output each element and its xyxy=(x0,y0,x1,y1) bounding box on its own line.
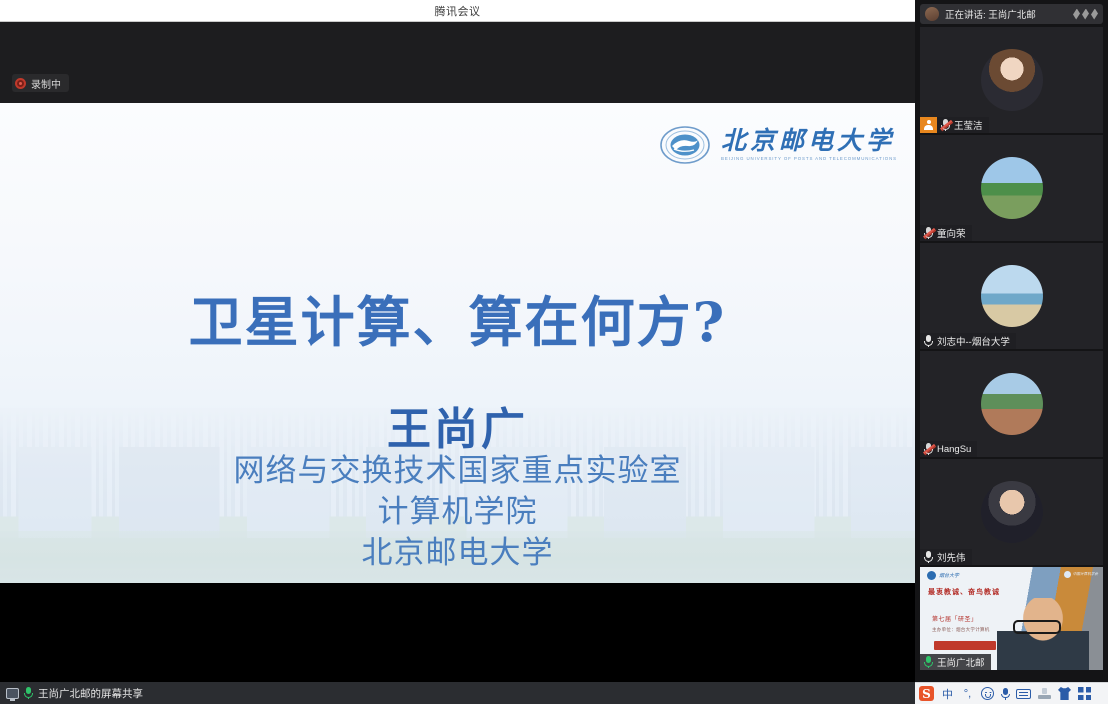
toolbox-icon[interactable] xyxy=(1038,688,1051,699)
microphone-muted-icon xyxy=(941,119,950,131)
microphone-muted-icon xyxy=(924,227,933,239)
sogou-logo-icon[interactable]: S xyxy=(919,686,934,701)
active-speaker-video-tile[interactable]: 烟台大学 中国计算机学会 最衷教诚、奋鸟教诚 第七届「研圣」 主办单位：烟台大学… xyxy=(920,567,1103,670)
smiley-icon[interactable] xyxy=(981,687,994,700)
participant-badges: 王尚广北邮 xyxy=(920,654,991,670)
ccf-logo-label: 中国计算机学会 xyxy=(1073,572,1098,577)
tencent-meeting-window: 腾讯会议 录制中 xyxy=(0,0,1108,704)
host-badge-icon xyxy=(920,117,937,133)
microphone-icon xyxy=(24,687,33,699)
app-grid-icon[interactable] xyxy=(1078,687,1091,700)
participant-name: 刘志中--烟台大学 xyxy=(937,334,1010,348)
avatar xyxy=(981,265,1043,327)
slide-letterbox-band xyxy=(0,583,915,682)
participant-name-chip: 童向荣 xyxy=(920,225,972,241)
ccf-logo-icon: 中国计算机学会 xyxy=(1064,571,1098,578)
window-title-bar: 腾讯会议 xyxy=(0,0,915,22)
avatar xyxy=(981,157,1043,219)
sound-wave-icon xyxy=(1073,9,1098,20)
participant-tile[interactable]: 童向荣 xyxy=(920,135,1103,241)
participant-tile[interactable]: HangSu xyxy=(920,351,1103,457)
participant-tile[interactable]: 王莹洁 xyxy=(920,27,1103,133)
speaker-avatar-icon xyxy=(925,7,939,21)
microphone-active-icon xyxy=(924,656,933,668)
recording-label: 录制中 xyxy=(31,76,61,91)
screen-share-viewport[interactable]: 录制中 北京邮电大学 BEIJING UNIVERSITY OF xyxy=(0,22,915,682)
active-speaker-banner: 正在讲话: 王尚广北邮 xyxy=(920,4,1103,24)
voice-input-icon[interactable] xyxy=(1001,688,1009,700)
record-dot-icon xyxy=(15,78,26,89)
slide-affiliation-line: 网络与交换技术国家重点实验室 xyxy=(0,451,915,492)
microphone-muted-icon xyxy=(924,443,933,455)
participant-name-chip: HangSu xyxy=(920,441,977,457)
participant-badges: 刘先伟 xyxy=(920,549,972,565)
participant-name: 王莹洁 xyxy=(954,118,983,132)
active-speaker-label: 正在讲话: 王尚广北邮 xyxy=(945,7,1067,21)
slide-title: 卫星计算、算在何方? xyxy=(0,278,915,357)
poster-headline: 最衷教诚、奋鸟教诚 xyxy=(928,587,1000,599)
participant-name-chip: 王莹洁 xyxy=(937,117,989,133)
sogou-ime-toolbar[interactable]: S 中 °, xyxy=(915,682,1108,704)
bupt-name-cn: 北京邮电大学 xyxy=(721,128,897,153)
poster-subline: 第七届「研圣」 xyxy=(932,614,978,623)
participant-name-chip: 刘先伟 xyxy=(920,549,972,565)
punctuation-icon[interactable]: °, xyxy=(961,686,974,701)
chinese-mode-icon[interactable]: 中 xyxy=(941,686,954,701)
slide-affiliation-line: 北京邮电大学 xyxy=(0,533,915,574)
screen-share-icon xyxy=(6,688,19,699)
poster-smallline: 主办单位：烟台大学计算机 xyxy=(932,627,990,633)
window-title: 腾讯会议 xyxy=(435,3,481,19)
microphone-icon xyxy=(924,551,933,563)
microphone-icon xyxy=(924,335,933,347)
bupt-logo-text: 北京邮电大学 BEIJING UNIVERSITY OF POSTS AND T… xyxy=(721,128,897,161)
poster-button xyxy=(934,641,996,650)
recording-band: 录制中 xyxy=(0,22,915,103)
ytu-logo-label: 烟台大学 xyxy=(939,572,959,579)
skin-icon[interactable] xyxy=(1058,687,1071,700)
participant-rail: 正在讲话: 王尚广北邮 王莹洁 xyxy=(915,0,1108,682)
bupt-logo: 北京邮电大学 BEIJING UNIVERSITY OF POSTS AND T… xyxy=(658,125,897,165)
slide-affiliation-block: 网络与交换技术国家重点实验室 计算机学院 北京邮电大学 xyxy=(0,451,915,574)
avatar xyxy=(981,373,1043,435)
participant-badges: 童向荣 xyxy=(920,225,972,241)
slide-author: 王尚广 xyxy=(0,393,915,457)
participant-name: 王尚广北邮 xyxy=(937,655,985,669)
participant-badges: HangSu xyxy=(920,441,977,457)
soft-keyboard-icon[interactable] xyxy=(1016,689,1031,699)
avatar xyxy=(981,49,1043,111)
participant-name-chip: 王尚广北邮 xyxy=(920,654,991,670)
speaker-video-person xyxy=(997,598,1089,670)
participant-name-chip: 刘志中--烟台大学 xyxy=(920,333,1016,349)
participant-badges: 王莹洁 xyxy=(920,117,989,133)
presentation-slide: 北京邮电大学 BEIJING UNIVERSITY OF POSTS AND T… xyxy=(0,103,915,583)
participant-tile[interactable]: 刘志中--烟台大学 xyxy=(920,243,1103,349)
ytu-logo-icon: 烟台大学 xyxy=(927,571,959,580)
slide-affiliation-line: 计算机学院 xyxy=(0,492,915,533)
participant-tile[interactable]: 刘先伟 xyxy=(920,459,1103,565)
participant-name: 刘先伟 xyxy=(937,550,966,564)
bupt-name-en: BEIJING UNIVERSITY OF POSTS AND TELECOMM… xyxy=(721,157,897,161)
participant-name: 童向荣 xyxy=(937,226,966,240)
recording-indicator: 录制中 xyxy=(12,74,69,92)
screen-share-status-bar: 王尚广北邮的屏幕共享 xyxy=(0,682,915,704)
screen-share-owner-label: 王尚广北邮的屏幕共享 xyxy=(38,686,143,701)
avatar xyxy=(981,481,1043,543)
bupt-emblem-icon xyxy=(658,125,712,165)
participant-name: HangSu xyxy=(937,444,971,455)
participant-badges: 刘志中--烟台大学 xyxy=(920,333,1016,349)
